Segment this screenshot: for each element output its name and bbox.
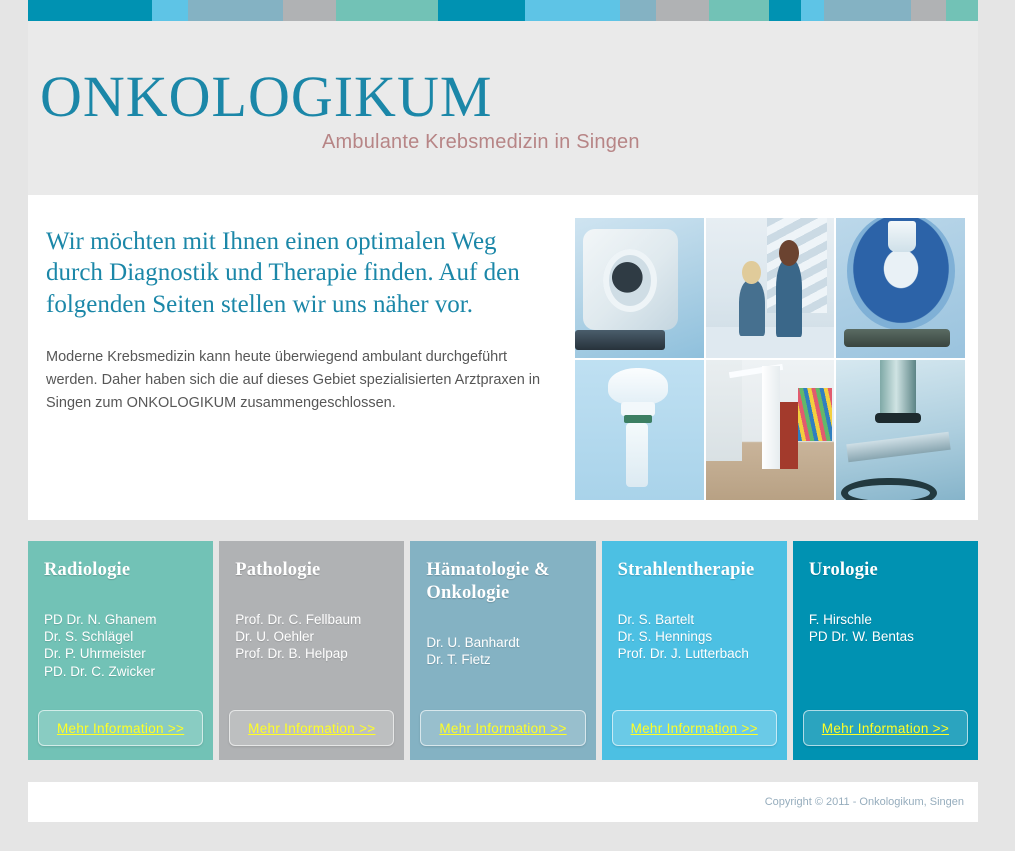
more-information-button-strahlentherapie[interactable]: Mehr Information >> bbox=[612, 710, 777, 746]
more-information-label: Mehr Information >> bbox=[57, 721, 184, 736]
site-footer: Copyright © 2011 - Onkologikum, Singen bbox=[28, 782, 978, 822]
photo-consultation bbox=[706, 218, 835, 358]
doctor-name: Dr. P. Uhrmeister bbox=[44, 645, 197, 662]
stripe-segment-6 bbox=[438, 0, 525, 21]
more-information-button-pathologie[interactable]: Mehr Information >> bbox=[229, 710, 394, 746]
department-doctor-list: F. HirschlePD Dr. W. Bentas bbox=[809, 611, 962, 645]
doctor-name: Dr. S. Bartelt bbox=[618, 611, 771, 628]
photo-ct-scanner bbox=[575, 218, 704, 358]
department-title: Pathologie bbox=[235, 559, 388, 582]
department-card-list: RadiologiePD Dr. N. GhanemDr. S. Schläge… bbox=[28, 541, 978, 760]
page-title: ONKOLOGIKUM bbox=[40, 68, 492, 126]
stripe-segment-11 bbox=[769, 0, 801, 21]
stripe-segment-15 bbox=[946, 0, 978, 21]
intro-lead-text: Wir möchten mit Ihnen einen optimalen We… bbox=[46, 226, 551, 320]
department-card-radiologie: RadiologiePD Dr. N. GhanemDr. S. Schläge… bbox=[28, 541, 213, 760]
more-information-label: Mehr Information >> bbox=[822, 721, 949, 736]
stripe-segment-9 bbox=[656, 0, 709, 21]
copyright-text: Copyright © 2011 - Onkologikum, Singen bbox=[765, 796, 964, 808]
stripe-segment-10 bbox=[709, 0, 769, 21]
main-content-panel: Wir möchten mit Ihnen einen optimalen We… bbox=[28, 195, 978, 520]
doctor-name: Prof. Dr. J. Lutterbach bbox=[618, 645, 771, 662]
stripe-segment-5 bbox=[336, 0, 439, 21]
intro-block: Wir möchten mit Ihnen einen optimalen We… bbox=[46, 226, 551, 414]
department-card-haematologie-onkologie: Hämatologie & OnkologieDr. U. BanhardtDr… bbox=[410, 541, 595, 760]
department-doctor-list: Dr. U. BanhardtDr. T. Fietz bbox=[426, 634, 579, 668]
stripe-segment-4 bbox=[283, 0, 336, 21]
stripe-segment-13 bbox=[824, 0, 911, 21]
more-information-button-radiologie[interactable]: Mehr Information >> bbox=[38, 710, 203, 746]
doctor-name: F. Hirschle bbox=[809, 611, 962, 628]
department-title: Urologie bbox=[809, 559, 962, 582]
doctor-name: Dr. T. Fietz bbox=[426, 651, 579, 668]
doctor-name: Prof. Dr. C. Fellbaum bbox=[235, 611, 388, 628]
doctor-name: PD. Dr. C. Zwicker bbox=[44, 663, 197, 680]
department-doctor-list: Dr. S. BarteltDr. S. HenningsProf. Dr. J… bbox=[618, 611, 771, 662]
department-card-urologie: UrologieF. HirschlePD Dr. W. BentasMehr … bbox=[793, 541, 978, 760]
stripe-segment-2 bbox=[152, 0, 188, 21]
doctor-name: PD Dr. N. Ghanem bbox=[44, 611, 197, 628]
department-doctor-list: Prof. Dr. C. FellbaumDr. U. OehlerProf. … bbox=[235, 611, 388, 662]
stripe-segment-12 bbox=[801, 0, 824, 21]
more-information-label: Mehr Information >> bbox=[631, 721, 758, 736]
photo-microscope bbox=[836, 360, 965, 500]
doctor-name: Dr. S. Hennings bbox=[618, 628, 771, 645]
department-title: Strahlentherapie bbox=[618, 559, 771, 582]
doctor-name: Dr. U. Banhardt bbox=[426, 634, 579, 651]
stripe-segment-1 bbox=[28, 0, 152, 21]
photo-collage bbox=[575, 218, 965, 500]
stripe-segment-7 bbox=[525, 0, 620, 21]
department-doctor-list: PD Dr. N. GhanemDr. S. SchlägelDr. P. Uh… bbox=[44, 611, 197, 680]
doctor-name: Dr. S. Schlägel bbox=[44, 628, 197, 645]
department-title: Hämatologie & Onkologie bbox=[426, 559, 579, 605]
site-header: ONKOLOGIKUM Ambulante Krebsmedizin in Si… bbox=[28, 21, 978, 195]
stripe-segment-8 bbox=[620, 0, 656, 21]
photo-corridor bbox=[706, 360, 835, 500]
department-card-strahlentherapie: StrahlentherapieDr. S. BarteltDr. S. Hen… bbox=[602, 541, 787, 760]
department-title: Radiologie bbox=[44, 559, 197, 582]
photo-linear-accelerator bbox=[836, 218, 965, 358]
more-information-label: Mehr Information >> bbox=[439, 721, 566, 736]
more-information-button-urologie[interactable]: Mehr Information >> bbox=[803, 710, 968, 746]
department-card-pathologie: PathologieProf. Dr. C. FellbaumDr. U. Oe… bbox=[219, 541, 404, 760]
stripe-segment-3 bbox=[188, 0, 283, 21]
color-stripe bbox=[28, 0, 978, 21]
more-information-label: Mehr Information >> bbox=[248, 721, 375, 736]
page-subtitle: Ambulante Krebsmedizin in Singen bbox=[322, 131, 640, 154]
doctor-name: PD Dr. W. Bentas bbox=[809, 628, 962, 645]
photo-iv-drip bbox=[575, 360, 704, 500]
doctor-name: Prof. Dr. B. Helpap bbox=[235, 645, 388, 662]
doctor-name: Dr. U. Oehler bbox=[235, 628, 388, 645]
stripe-segment-14 bbox=[911, 0, 946, 21]
intro-body-text: Moderne Krebsmedizin kann heute überwieg… bbox=[46, 346, 551, 415]
more-information-button-haematologie-onkologie[interactable]: Mehr Information >> bbox=[420, 710, 585, 746]
